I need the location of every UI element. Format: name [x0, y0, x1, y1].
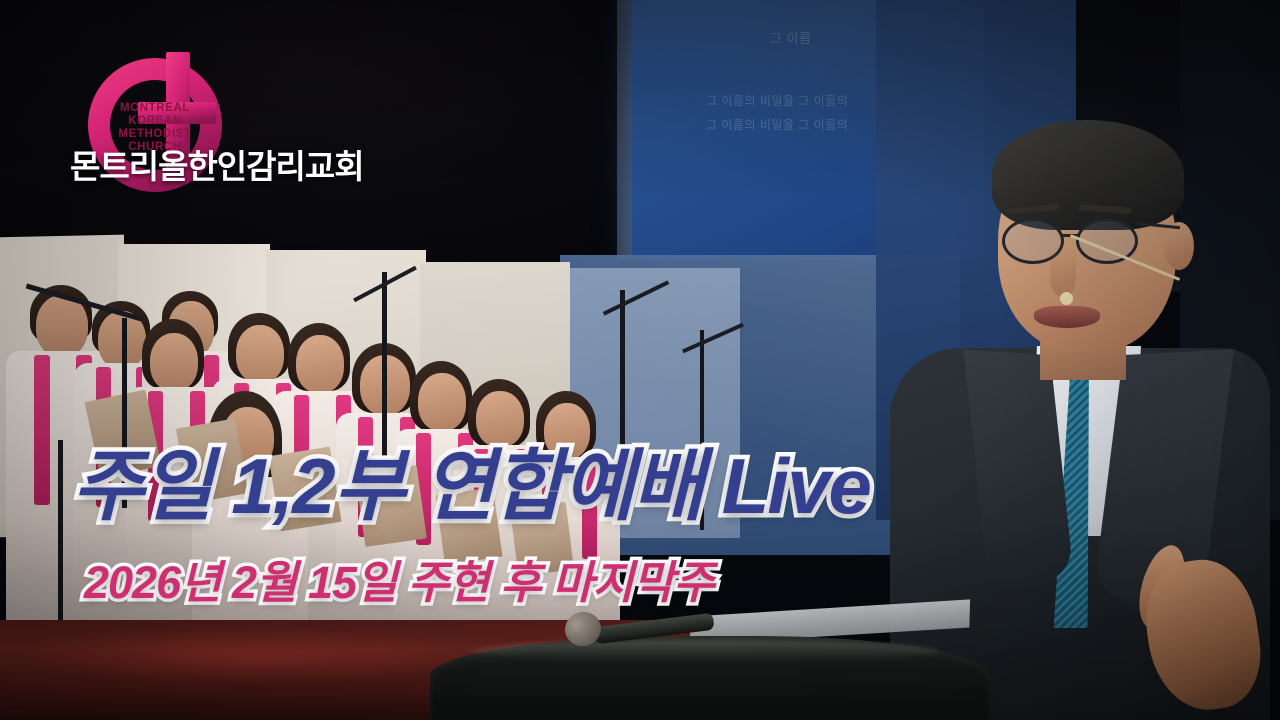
logo-line-3: METHODIST: [80, 128, 230, 141]
livestream-thumbnail: 그 이름 그 이름의 비밀을 그 이름의 그 이름의 비밀을 그 이름의: [0, 0, 1280, 720]
headset-microphone-capsule: [1060, 292, 1073, 305]
logo-line-1: MONTREAL: [80, 102, 230, 115]
projection-screen-lyric-1: 그 이름의 비밀을 그 이름의: [706, 92, 848, 109]
podium-reflection: [470, 640, 940, 662]
page-title: 주일 1,2부 연합예배 Live: [72, 424, 870, 536]
preacher-nose: [1050, 250, 1076, 296]
projection-screen-lyric-2: 그 이름의 비밀을 그 이름의: [706, 116, 848, 133]
page-subtitle: 2026년 2월 15일 주현 후 마지막주: [84, 546, 714, 611]
church-name-korean: 몬트리올한인감리교회: [70, 140, 364, 188]
mic-stand: [58, 440, 63, 650]
projection-screen-title: 그 이름: [770, 28, 812, 47]
logo-line-2: KOREAN: [80, 115, 230, 128]
preacher-mouth: [1034, 306, 1100, 328]
preacher-hair: [992, 120, 1184, 230]
